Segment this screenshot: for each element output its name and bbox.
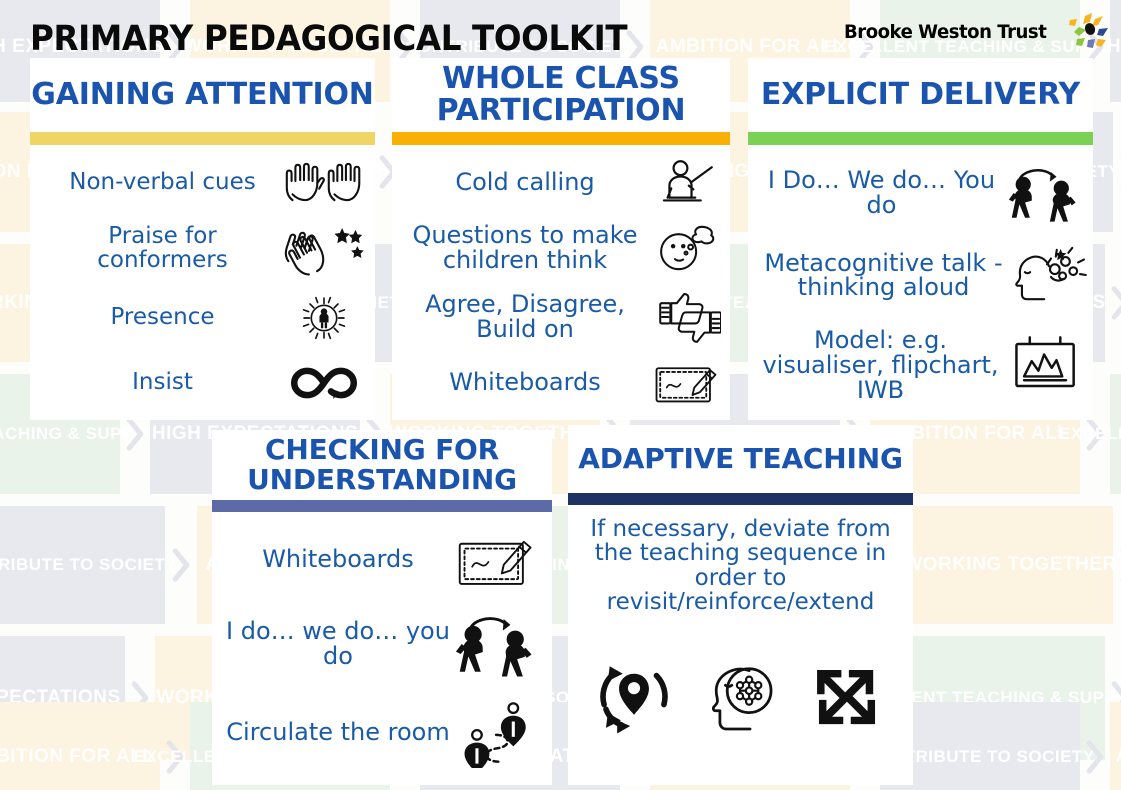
logo-text: Brooke Weston Trust <box>844 21 1046 43</box>
list-item-label: Whiteboards <box>396 370 648 395</box>
card-body-checking-for-understanding: Whiteboards <box>212 512 552 785</box>
background-watermark-tile: CONTRIBUTE TO SOCIETY <box>0 506 165 624</box>
clapping-hands-stars-icon <box>281 220 367 278</box>
list-item: Insist <box>34 357 367 409</box>
list-item-label: Metacognitive talk - thinking aloud <box>752 251 1011 300</box>
list-item: Cold calling <box>396 156 724 208</box>
head-network-icon <box>698 656 782 740</box>
list-item: Praise for conformers <box>34 219 367 279</box>
teacher-pointer-icon <box>648 157 724 207</box>
starburst-logo-icon <box>1065 12 1109 52</box>
background-watermark-tile: EXCELLENT TEACHING & SUPPORT <box>1110 374 1121 494</box>
poster-header: PRIMARY PEDAGOGICAL TOOLKIT Brooke Westo… <box>0 0 1121 60</box>
list-item: Presence <box>34 290 367 346</box>
page-title: PRIMARY PEDAGOGICAL TOOLKIT <box>30 19 627 59</box>
list-item: Questions to make children think <box>396 219 724 277</box>
list-item-label: Whiteboards <box>218 547 452 572</box>
list-item: Non-verbal cues <box>34 156 367 208</box>
card-explicit-delivery[interactable]: EXPLICIT DELIVERY I Do… We do… You do <box>748 58 1093 420</box>
card-body-gaining-attention: Non-verbal cues <box>30 145 375 420</box>
brand-logo: Brooke Weston Trust <box>844 12 1109 52</box>
card-title-explicit-delivery: EXPLICIT DELIVERY <box>748 58 1093 132</box>
chevron-right-icon <box>1080 702 1110 790</box>
whiteboard-pen-icon <box>648 358 724 408</box>
list-item-label: Praise for conformers <box>34 225 281 272</box>
whiteboard-pen-icon <box>452 530 544 590</box>
thumbs-up-down-icon <box>648 289 724 345</box>
location-revisit-loop-icon <box>591 655 677 741</box>
background-watermark-row: AMBITION FOR ALLEXCELLENT TEACHING & SUP… <box>0 702 1121 790</box>
list-item: Agree, Disagree, Build on <box>396 288 724 346</box>
adaptive-teaching-description: If necessary, deviate from the teaching … <box>574 511 907 615</box>
list-item: I do… we do… you do <box>218 608 544 680</box>
background-watermark-tile: AMBITION FOR ALL <box>0 702 160 790</box>
card-checking-for-understanding[interactable]: CHECKING FOR UNDERSTANDING Whiteboards <box>212 430 552 785</box>
chevron-right-icon <box>1105 244 1121 362</box>
flipchart-board-icon <box>1003 333 1089 397</box>
person-radiating-icon <box>281 292 367 344</box>
list-item-label: Cold calling <box>396 170 648 195</box>
two-people-handover-icon <box>1005 164 1089 222</box>
card-body-whole-class-participation: Cold calling <box>392 145 730 420</box>
list-item: Whiteboards <box>396 357 724 409</box>
background-watermark-row: CONTRIBUTE TO SOCIETYAMBITION FOR ALLEXC… <box>0 506 1121 624</box>
adaptive-teaching-icons <box>574 615 907 782</box>
toolkit-poster: HIGH EXPECTATIONSWORKING TOGETHERCONTRIB… <box>0 0 1121 790</box>
chevron-right-icon <box>1113 506 1121 624</box>
card-body-explicit-delivery: I Do… We do… You do <box>748 145 1093 420</box>
list-item-label: Circulate the room <box>218 720 452 745</box>
list-item-label: Insist <box>34 371 281 395</box>
card-title-checking-for-understanding: CHECKING FOR UNDERSTANDING <box>212 430 552 500</box>
two-people-handover-icon <box>452 611 544 677</box>
card-gaining-attention[interactable]: GAINING ATTENTION Non-verbal cues <box>30 58 375 420</box>
two-raised-hands-icon <box>281 156 367 208</box>
chevron-right-icon <box>160 702 190 790</box>
thinking-face-cloud-icon <box>648 220 724 276</box>
list-item-label: Model: e.g. visualiser, flipchart, IWB <box>752 328 1003 402</box>
card-title-whole-class-participation: WHOLE CLASS PARTICIPATION <box>392 58 730 132</box>
card-title-adaptive-teaching: ADAPTIVE TEACHING <box>568 425 913 493</box>
list-item: Metacognitive talk - thinking aloud <box>752 241 1089 309</box>
list-item: Model: e.g. visualiser, flipchart, IWB <box>752 323 1089 407</box>
list-item: Whiteboards <box>218 529 544 591</box>
background-watermark-tile: AMBITION FOR ALL <box>1110 702 1121 790</box>
background-watermark-tile: WORKING TOGETHER <box>908 506 1113 624</box>
card-title-gaining-attention: GAINING ATTENTION <box>30 58 375 132</box>
chevron-right-icon <box>1113 112 1121 232</box>
list-item-label: I do… we do… you do <box>218 619 452 668</box>
list-item-label: Agree, Disagree, Build on <box>396 292 648 341</box>
chevron-right-icon <box>165 506 197 624</box>
list-item-label: Presence <box>34 306 281 330</box>
list-item-label: Non-verbal cues <box>34 171 281 195</box>
list-item: Circulate the room <box>218 697 544 769</box>
circulate-path-people-icon <box>452 698 544 768</box>
card-whole-class-participation[interactable]: WHOLE CLASS PARTICIPATION Cold calling <box>392 58 730 420</box>
list-item-label: I Do… We do… You do <box>752 168 1005 217</box>
infinity-loop-icon <box>281 361 367 405</box>
card-body-adaptive-teaching: If necessary, deviate from the teaching … <box>568 505 913 785</box>
expand-arrows-icon <box>804 655 890 741</box>
head-ideas-icon <box>1011 245 1089 305</box>
card-adaptive-teaching[interactable]: ADAPTIVE TEACHING If necessary, deviate … <box>568 425 913 785</box>
list-item: I Do… We do… You do <box>752 158 1089 228</box>
list-item-label: Questions to make children think <box>396 223 648 272</box>
